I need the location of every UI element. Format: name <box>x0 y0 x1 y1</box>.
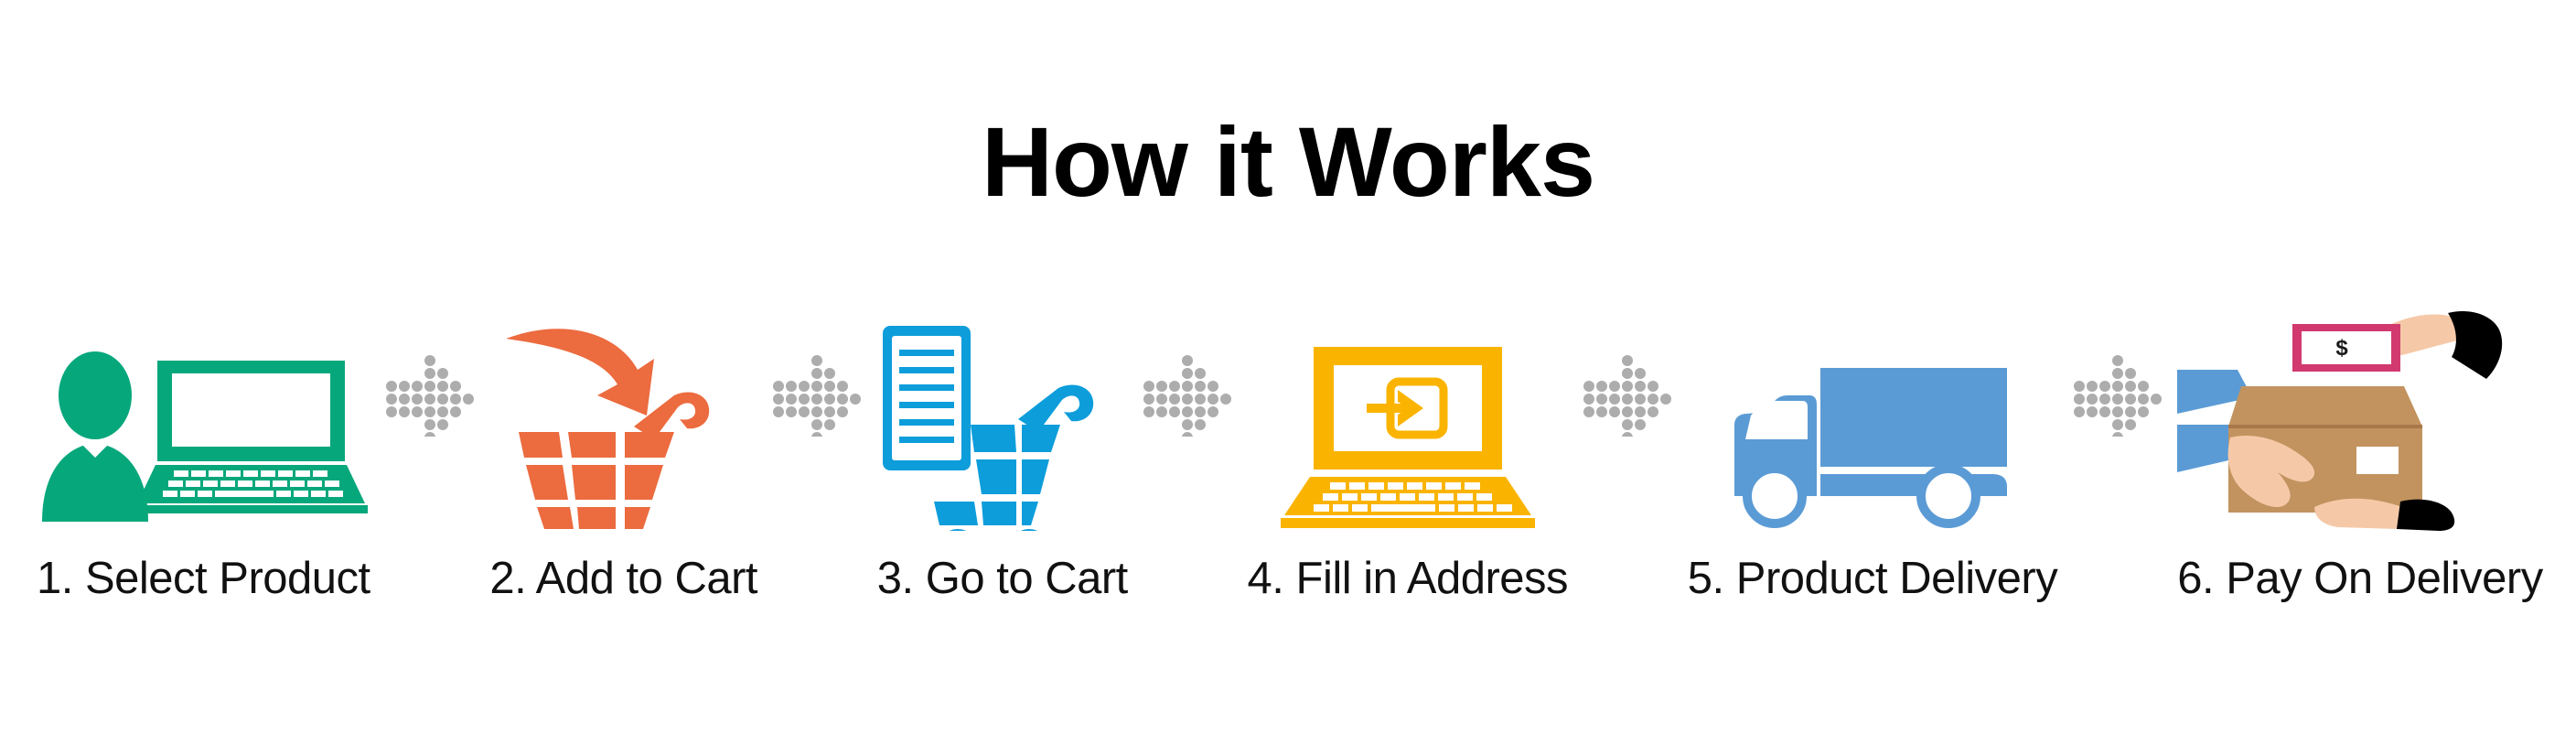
laptop-with-login-arrow-icon <box>1275 343 1540 531</box>
step-6-icon-box: $ <box>2177 302 2543 531</box>
step-3-label: 3. Go to Cart <box>877 553 1128 604</box>
banknote-dollar-symbol: $ <box>2335 336 2348 361</box>
step-1-icon-box <box>38 302 368 531</box>
step-6-pay-on-delivery: $ <box>2177 302 2543 604</box>
step-4-label: 4. Fill in Address <box>1248 553 1569 604</box>
separator-5 <box>2074 302 2162 531</box>
delivery-truck-icon <box>1722 357 2023 531</box>
hands-exchanging-box-and-money-icon: $ <box>2177 302 2543 531</box>
step-3-icon-box <box>879 302 1126 531</box>
step-1-label: 1. Select Product <box>37 553 370 604</box>
dotted-arrow-right-icon <box>386 349 474 437</box>
infographic-page: How it Works <box>0 0 2576 745</box>
person-with-laptop-icon <box>38 348 368 531</box>
steps-row: 1. Select Product <box>37 302 2543 650</box>
step-5-product-delivery: 5. Product Delivery <box>1688 302 2057 604</box>
document-with-shopping-cart-icon <box>879 320 1126 531</box>
step-2-icon-box <box>500 302 747 531</box>
step-5-label: 5. Product Delivery <box>1688 553 2057 604</box>
arrow-into-shopping-cart-icon <box>500 320 747 531</box>
step-1-select-product: 1. Select Product <box>37 302 370 604</box>
dotted-arrow-right-icon <box>1583 349 1671 437</box>
step-4-fill-in-address: 4. Fill in Address <box>1248 302 1569 604</box>
step-2-add-to-cart: 2. Add to Cart <box>489 302 757 604</box>
separator-3 <box>1143 302 1231 531</box>
separator-4 <box>1583 302 1671 531</box>
step-2-label: 2. Add to Cart <box>489 553 757 604</box>
step-5-icon-box <box>1722 302 2023 531</box>
dotted-arrow-right-icon <box>773 349 861 437</box>
separator-1 <box>386 302 474 531</box>
step-4-icon-box <box>1275 302 1540 531</box>
step-3-go-to-cart: 3. Go to Cart <box>877 302 1128 604</box>
dotted-arrow-right-icon <box>2074 349 2162 437</box>
separator-2 <box>773 302 861 531</box>
page-title: How it Works <box>0 108 2576 217</box>
dotted-arrow-right-icon <box>1143 349 1231 437</box>
step-6-label: 6. Pay On Delivery <box>2177 553 2543 604</box>
